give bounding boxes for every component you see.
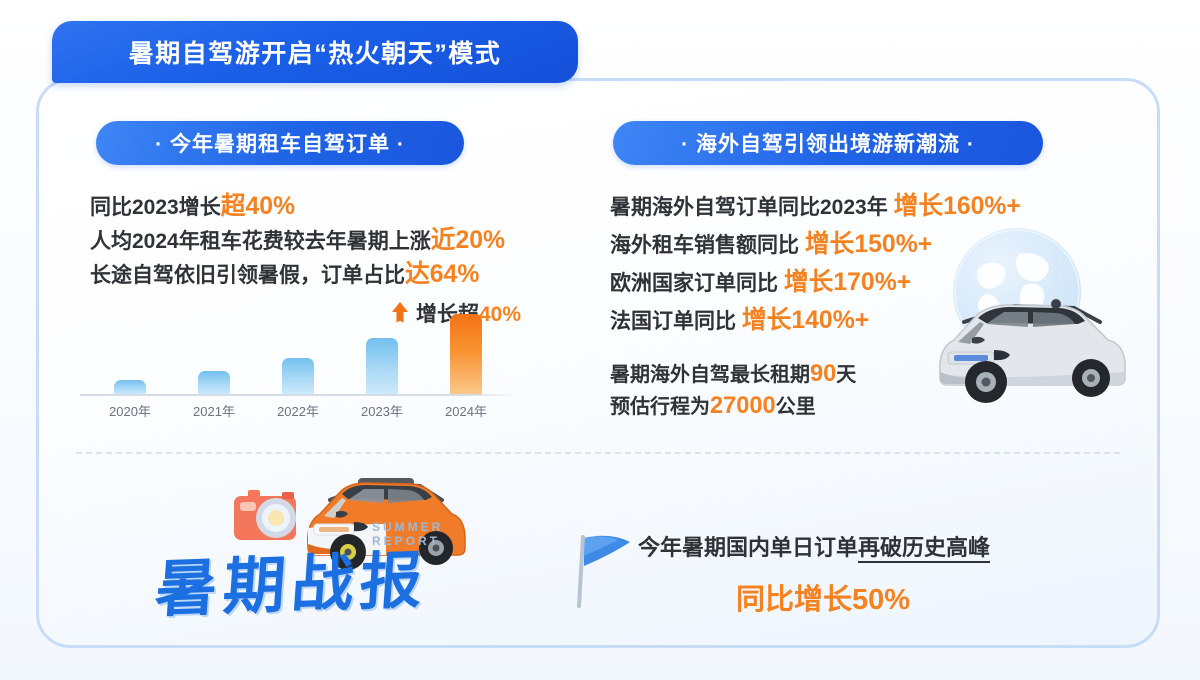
left-stat-3: 长途自驾依旧引领暑假，订单占比达64% [90, 254, 479, 290]
section-divider [76, 452, 1120, 454]
right-stat-2: 海外租车销售额同比 增长150%+ [610, 224, 932, 260]
right-stat-4: 法国订单同比 增长140%+ [610, 300, 869, 336]
right-stat-3-highlight: 增长170%+ [784, 269, 911, 296]
bar-2024年 [450, 314, 482, 395]
x-label-2022年: 2022年 [256, 401, 340, 420]
x-label-2023年: 2023年 [340, 401, 424, 420]
bar-chart-bars [88, 300, 508, 395]
chart-axis-line [80, 394, 516, 396]
right-stat-5-suffix: 天 [836, 364, 856, 386]
right-stat-1: 暑期海外自驾订单同比2023年 增长160%+ [610, 186, 1021, 222]
bar-slot [256, 300, 340, 395]
bar-chart [88, 300, 508, 395]
bottom-subheadline: 同比增长50% [736, 576, 910, 618]
title-banner: 暑期自驾游开启“热火朝天”模式 [52, 21, 578, 83]
infographic-root: 暑期自驾游开启“热火朝天”模式 · 今年暑期租车自驾订单 · · 海外自驾引领出… [0, 0, 1200, 680]
section-header-right: · 海外自驾引领出境游新潮流 · [613, 121, 1043, 165]
section-header-right-label: · 海外自驾引领出境游新潮流 · [681, 128, 975, 158]
left-stat-1-prefix: 同比2023增长 [90, 196, 221, 219]
right-stat-5: 暑期海外自驾最长租期90天 [610, 358, 856, 388]
bar-slot [340, 300, 424, 395]
chart-x-labels: 2020年2021年2022年2023年2024年 [88, 401, 508, 420]
right-stat-2-prefix: 海外租车销售额同比 [610, 234, 805, 257]
left-stat-3-prefix: 长途自驾依旧引领暑假，订单占比 [90, 264, 405, 287]
x-label-2024年: 2024年 [424, 401, 508, 420]
right-stat-3-prefix: 欧洲国家订单同比 [610, 272, 784, 295]
brush-title: 暑期战报 [152, 529, 431, 628]
section-header-left: · 今年暑期租车自驾订单 · [96, 121, 464, 165]
bar-slot [424, 300, 508, 395]
right-stat-5-prefix: 暑期海外自驾最长租期 [610, 364, 810, 386]
right-stat-1-prefix: 暑期海外自驾订单同比2023年 [610, 196, 894, 219]
left-stat-1-highlight: 超40% [221, 193, 295, 220]
bar-2021年 [198, 371, 230, 395]
right-stat-6-highlight: 27000 [710, 393, 776, 419]
right-stat-2-highlight: 增长150%+ [805, 231, 932, 258]
right-stat-6-prefix: 预估行程为 [610, 396, 710, 418]
summer-report-logo: SUMMER REPORT 暑期战报 [150, 466, 510, 626]
flag-icon [568, 528, 638, 617]
right-stat-1-highlight: 增长160%+ [894, 193, 1021, 220]
x-label-2020年: 2020年 [88, 401, 172, 420]
left-stat-2: 人均2024年租车花费较去年暑期上涨近20% [90, 220, 505, 256]
silver-suv-icon [928, 282, 1134, 413]
right-stat-3: 欧洲国家订单同比 增长170%+ [610, 262, 911, 298]
right-stat-6-suffix: 公里 [776, 396, 816, 418]
bar-2022年 [282, 358, 314, 395]
right-stat-5-highlight: 90 [810, 361, 836, 387]
left-stat-3-highlight: 达64% [405, 261, 479, 288]
bar-2020年 [114, 380, 146, 395]
bottom-headline-underline: 再破历史高峰 [858, 535, 990, 563]
bar-slot [88, 300, 172, 395]
right-stat-4-highlight: 增长140%+ [742, 307, 869, 334]
bottom-headline: 今年暑期国内单日订单再破历史高峰 [638, 530, 990, 562]
banner-title: 暑期自驾游开启“热火朝天”模式 [129, 34, 502, 70]
left-stat-2-highlight: 近20% [431, 227, 505, 254]
left-stat-2-prefix: 人均2024年租车花费较去年暑期上涨 [90, 230, 431, 253]
bottom-headline-plain: 今年暑期国内单日订单 [638, 535, 858, 560]
right-stat-6: 预估行程为27000公里 [610, 390, 816, 420]
left-stat-1: 同比2023增长超40% [90, 186, 295, 222]
x-label-2021年: 2021年 [172, 401, 256, 420]
section-header-left-label: · 今年暑期租车自驾订单 · [155, 128, 405, 158]
bar-2023年 [366, 338, 398, 395]
right-stat-4-prefix: 法国订单同比 [610, 310, 742, 333]
bar-slot [172, 300, 256, 395]
